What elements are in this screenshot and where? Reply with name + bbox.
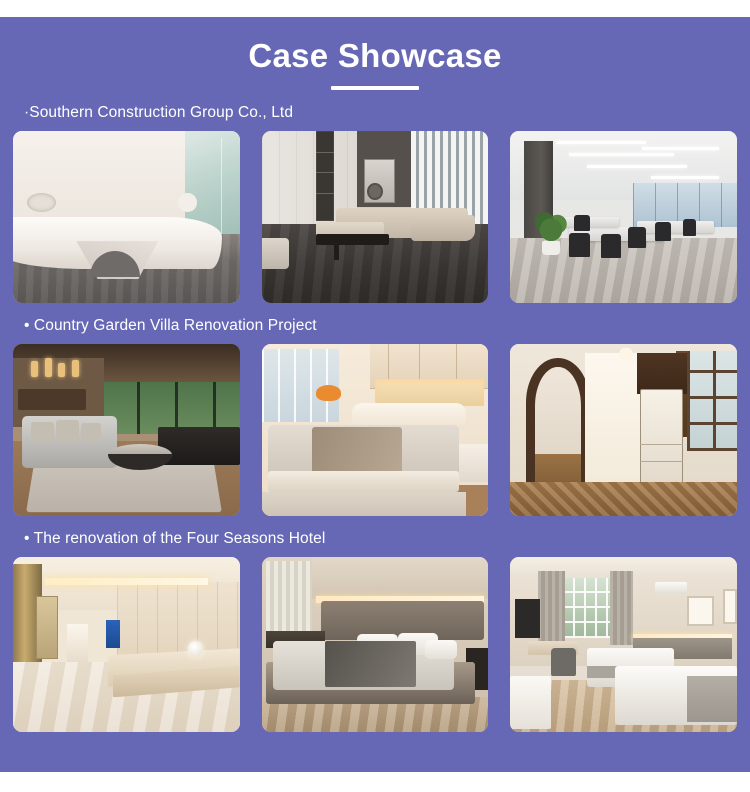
section-country-garden-villa: • Country Garden Villa Renovation Projec… — [0, 316, 750, 516]
section-heading: ·Southern Construction Group Co., Ltd — [0, 103, 750, 123]
section-four-seasons-hotel: • The renovation of the Four Seasons Hot… — [0, 529, 750, 732]
cream-bedroom-image — [262, 344, 489, 516]
purple-panel: Case Showcase ·Southern Construction Gro… — [0, 17, 750, 772]
case-image-tile[interactable] — [510, 131, 737, 303]
hotel-guest-room-image — [262, 557, 489, 732]
case-image-tile[interactable] — [262, 131, 489, 303]
case-image-tile[interactable] — [510, 557, 737, 732]
section-heading: • The renovation of the Four Seasons Hot… — [0, 529, 750, 549]
case-showcase-page: Case Showcase ·Southern Construction Gro… — [0, 0, 750, 792]
title-underline-accent — [331, 86, 419, 90]
case-image-tile[interactable] — [262, 344, 489, 516]
case-image-tile[interactable] — [13, 344, 240, 516]
reception-desk-lobby-image — [13, 131, 240, 303]
case-image-tile[interactable] — [262, 557, 489, 732]
twin-bed-hotel-room-image — [510, 557, 737, 732]
open-plan-office-image — [510, 131, 737, 303]
case-image-tile[interactable] — [13, 557, 240, 732]
page-header: Case Showcase — [0, 17, 750, 90]
image-grid — [0, 131, 750, 303]
modern-living-room-image — [262, 131, 489, 303]
page-title: Case Showcase — [0, 37, 750, 75]
case-image-tile[interactable] — [13, 131, 240, 303]
case-image-tile[interactable] — [510, 344, 737, 516]
hotel-lobby-image — [13, 557, 240, 732]
image-grid — [0, 344, 750, 516]
arched-hallway-kitchen-image — [510, 344, 737, 516]
section-heading: • Country Garden Villa Renovation Projec… — [0, 316, 750, 336]
villa-living-room-image — [13, 344, 240, 516]
section-southern-construction: ·Southern Construction Group Co., Ltd — [0, 103, 750, 303]
image-grid — [0, 557, 750, 732]
